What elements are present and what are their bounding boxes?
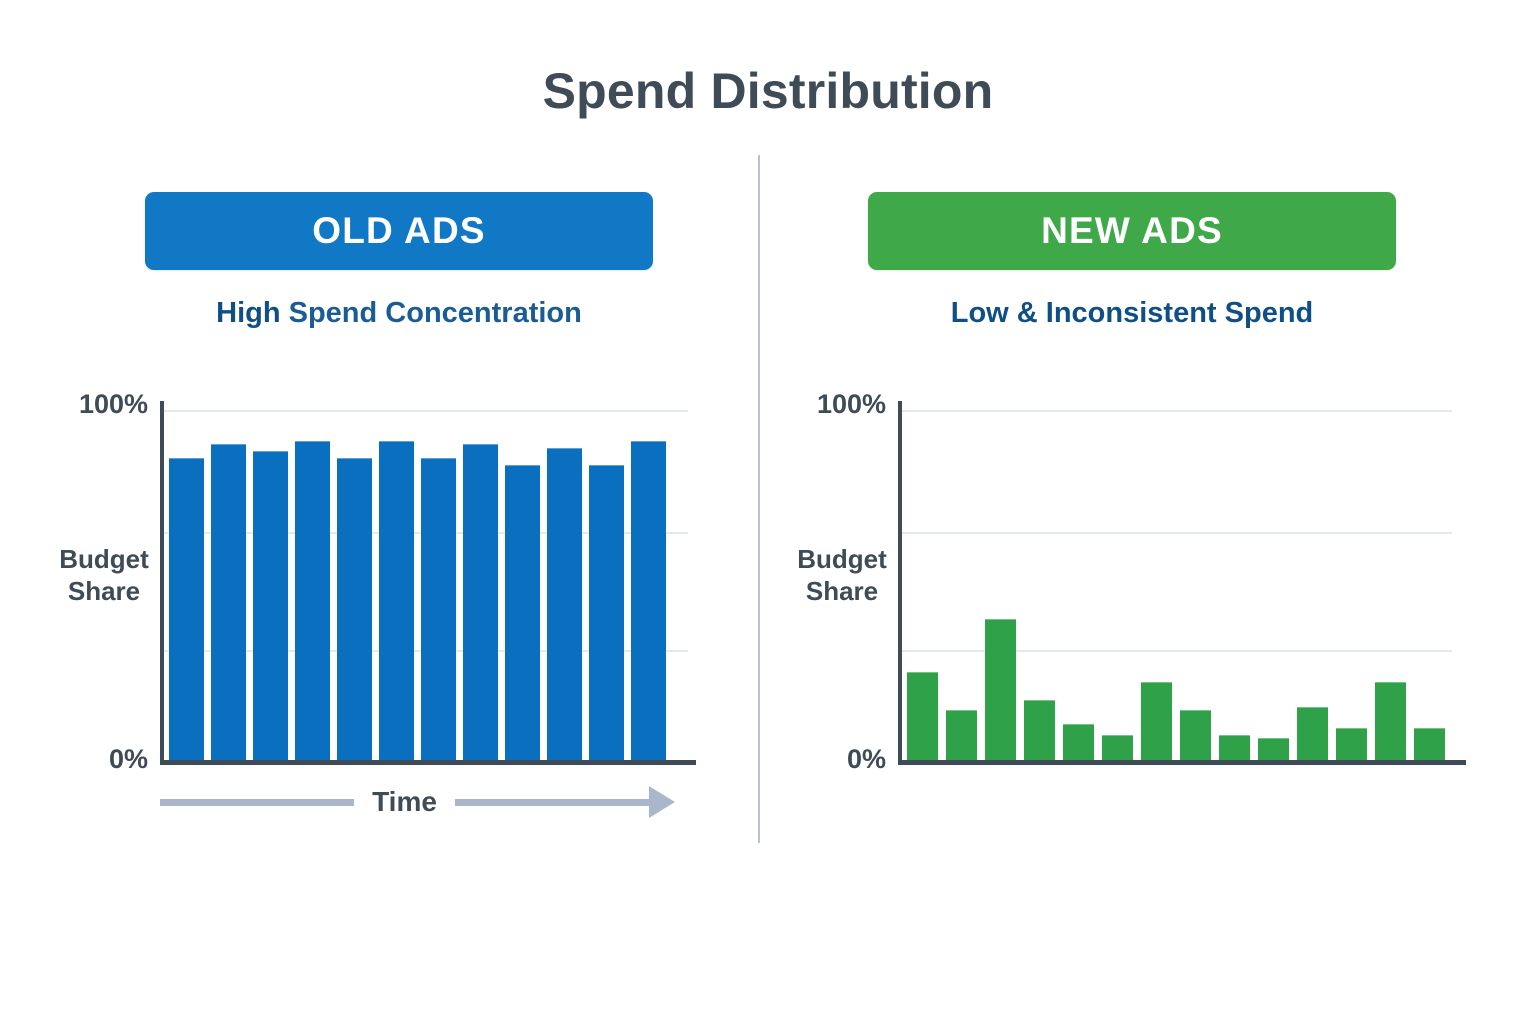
- y-axis-line: [160, 401, 164, 761]
- time-axis-label: Time: [354, 786, 455, 818]
- plot-area-old-ads: [160, 410, 690, 762]
- bar: [1336, 728, 1367, 761]
- bar: [253, 451, 288, 760]
- subtitle-old-ads-rest: Spend Concentration: [281, 297, 582, 329]
- bar: [631, 441, 666, 761]
- y-axis-line: [898, 401, 902, 761]
- y-axis-title: Budget Share: [788, 544, 896, 607]
- bar: [1297, 707, 1328, 761]
- subtitle-new-ads: Low & Inconsistent Spend: [868, 297, 1396, 330]
- y-axis-title-line2: Share: [806, 576, 878, 606]
- y-axis-title: Budget Share: [50, 544, 158, 607]
- bar: [421, 458, 456, 760]
- y-axis-title-line1: Budget: [59, 544, 149, 574]
- subtitle-old-ads-accent: High: [216, 297, 280, 329]
- bar-series-old-ads: [169, 410, 666, 760]
- y-axis-top-label: 100%: [60, 389, 148, 420]
- x-axis-line: [160, 760, 696, 765]
- chart-new-ads: 100% 0% Budget Share: [798, 392, 1518, 772]
- bar: [1219, 735, 1250, 761]
- time-line-right: [455, 799, 649, 806]
- y-axis-bottom-label: 0%: [60, 744, 148, 775]
- badge-new-ads[interactable]: NEW ADS: [868, 192, 1396, 270]
- bar: [1102, 735, 1133, 761]
- badge-new-ads-label: NEW ADS: [1041, 210, 1223, 252]
- panel-old-ads: OLD ADS High Spend Concentration 100% 0%…: [0, 0, 758, 1024]
- bar: [379, 441, 414, 761]
- badge-old-ads-label: OLD ADS: [312, 210, 486, 252]
- bar: [1258, 738, 1289, 760]
- bar: [1375, 682, 1406, 760]
- chart-old-ads: 100% 0% Budget Share: [60, 392, 710, 772]
- time-axis-old-ads: Time: [160, 782, 675, 822]
- bar: [211, 444, 246, 760]
- bar: [337, 458, 372, 760]
- bar: [1063, 724, 1094, 760]
- bar: [295, 441, 330, 761]
- y-axis-title-line2: Share: [68, 576, 140, 606]
- arrow-right-icon: [649, 786, 675, 818]
- bar: [1141, 682, 1172, 760]
- bar: [463, 444, 498, 760]
- bar: [946, 710, 977, 760]
- subtitle-old-ads: High Spend Concentration: [145, 297, 653, 330]
- y-axis-top-label: 100%: [798, 389, 886, 420]
- bar: [589, 465, 624, 760]
- bar: [169, 458, 204, 760]
- time-line-left: [160, 799, 354, 806]
- bar: [985, 619, 1016, 760]
- infographic-canvas: Spend Distribution OLD ADS High Spend Co…: [0, 0, 1536, 1024]
- badge-old-ads[interactable]: OLD ADS: [145, 192, 653, 270]
- bar: [1180, 710, 1211, 760]
- x-axis-line: [898, 760, 1466, 765]
- bar: [547, 448, 582, 761]
- bar: [1414, 728, 1445, 761]
- subtitle-new-ads-accent: Low & Inconsistent Spend: [951, 297, 1314, 329]
- bar: [505, 465, 540, 760]
- bar-series-new-ads: [907, 410, 1445, 760]
- panel-new-ads: NEW ADS Low & Inconsistent Spend 100% 0%…: [758, 0, 1536, 1024]
- bar: [907, 672, 938, 761]
- y-axis-bottom-label: 0%: [798, 744, 886, 775]
- y-axis-title-line1: Budget: [797, 544, 887, 574]
- plot-area-new-ads: [898, 410, 1468, 762]
- bar: [1024, 700, 1055, 761]
